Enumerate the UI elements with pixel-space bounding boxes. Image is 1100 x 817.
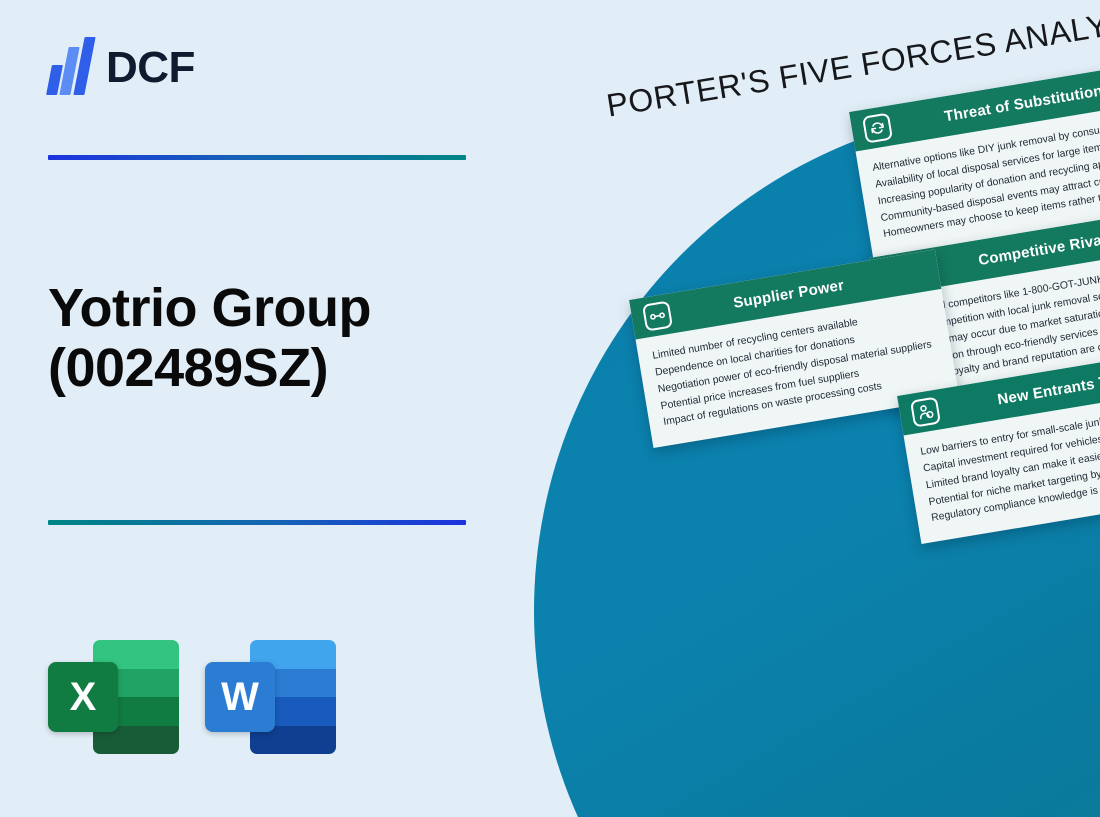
page-title: Yotrio Group (002489SZ) (48, 278, 508, 399)
export-format-icons: X W (48, 636, 338, 758)
dumbbell-link-icon (642, 300, 673, 331)
company-ticker-line-2: (002489SZ) (48, 338, 508, 398)
brand-logo[interactable]: DCF (48, 36, 195, 100)
logo-bar-3 (73, 37, 95, 95)
left-panel: DCF Yotrio Group (002489SZ) X W (0, 0, 530, 817)
company-name-line-1: Yotrio Group (48, 278, 508, 338)
divider-top (48, 155, 466, 160)
brand-name: DCF (106, 46, 195, 90)
bar-chart-logo-icon (48, 37, 92, 99)
poster-page: PORTER'S FIVE FORCES ANALYSIS Threat of … (0, 0, 1100, 817)
divider-bottom (48, 520, 466, 525)
word-file-icon[interactable]: W (205, 636, 338, 758)
excel-badge-letter: X (48, 662, 118, 732)
refresh-cycle-icon (862, 112, 893, 143)
excel-file-icon[interactable]: X (48, 636, 181, 758)
word-badge-letter: W (205, 662, 275, 732)
add-person-icon (910, 396, 941, 427)
